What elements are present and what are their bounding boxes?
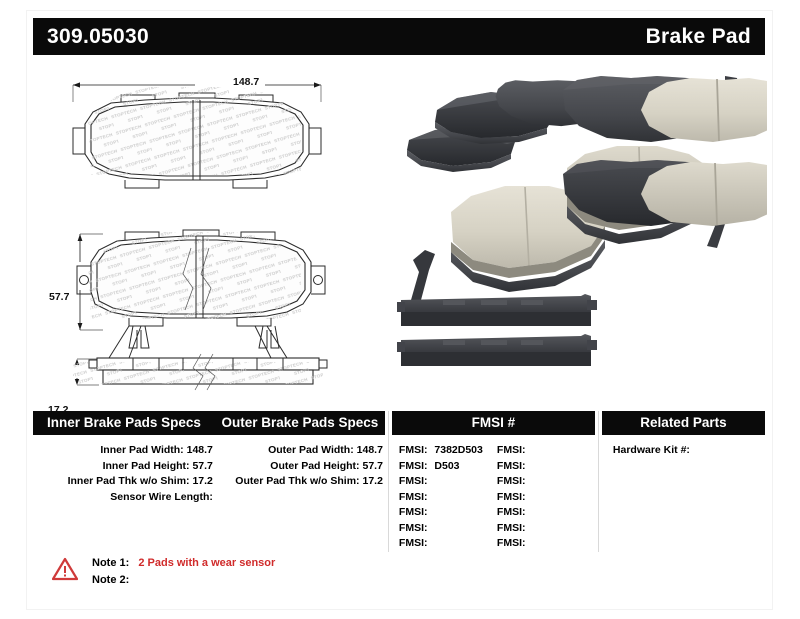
fmsi-row: FMSI: xyxy=(497,490,595,506)
part-number: 309.05030 xyxy=(47,25,149,49)
spec-label: Sensor Wire Length: xyxy=(110,491,213,503)
spec-row: Outer Pad Thk w/o Shim: 17.2 xyxy=(215,474,385,490)
warning-triangle-icon xyxy=(52,557,78,581)
fmsi-subcolumn-a: FMSI: 7382D503 FMSI: D503 FMSI: xyxy=(399,443,497,552)
related-label: Hardware Kit #: xyxy=(613,444,690,456)
spec-value: 17.2 xyxy=(362,475,382,487)
spec-row: Sensor Wire Length: xyxy=(33,490,215,506)
fmsi-label: FMSI: xyxy=(399,537,428,549)
pad-drawing-svg: STOPTECH STOPTECH xyxy=(33,62,393,397)
notes-section: Note 1: 2 Pads with a wear sensor Note 2… xyxy=(52,555,275,589)
column-related-parts: Related Parts Hardware Kit #: xyxy=(602,411,765,459)
spec-row: Outer Pad Width: 148.7 xyxy=(215,443,385,459)
fmsi-label: FMSI: xyxy=(399,460,428,472)
column-divider xyxy=(598,411,599,552)
fmsi-label: FMSI: xyxy=(399,491,428,503)
spec-label: Inner Pad Thk w/o Shim: xyxy=(68,475,190,487)
pad-view-edge xyxy=(73,326,333,390)
note-1-label: Note 1: xyxy=(92,557,129,569)
column-divider xyxy=(388,411,389,552)
fmsi-value xyxy=(525,537,529,549)
fmsi-row: FMSI: xyxy=(497,459,595,475)
fmsi-row: FMSI: xyxy=(497,536,595,552)
height-dimension-label: 57.7 xyxy=(49,291,69,303)
note-row-2: Note 2: xyxy=(92,572,275,589)
spec-label: Outer Pad Width: xyxy=(268,444,354,456)
width-dimension-label: 148.7 xyxy=(233,76,259,88)
fmsi-value xyxy=(525,522,529,534)
spec-row: Inner Pad Thk w/o Shim: 17.2 xyxy=(33,474,215,490)
header-inner-specs: Inner Brake Pads Specs xyxy=(33,411,215,435)
spec-row: Inner Pad Width: 148.7 xyxy=(33,443,215,459)
header-bar: 309.05030 Brake Pad xyxy=(33,18,765,55)
spec-value: 57.7 xyxy=(362,460,382,472)
fmsi-value xyxy=(427,506,431,518)
fmsi-value xyxy=(525,460,529,472)
spec-row: Outer Pad Height: 57.7 xyxy=(215,459,385,475)
fmsi-value xyxy=(525,444,529,456)
fmsi-row: FMSI: xyxy=(497,443,595,459)
note-1-value: 2 Pads with a wear sensor xyxy=(132,557,275,569)
fmsi-row: FMSI: xyxy=(399,490,497,506)
fmsi-label: FMSI: xyxy=(399,444,428,456)
spec-value: 17.2 xyxy=(192,475,212,487)
product-photos xyxy=(395,62,767,397)
fmsi-value: D503 xyxy=(430,460,459,472)
fmsi-value xyxy=(427,522,431,534)
fmsi-label: FMSI: xyxy=(497,460,526,472)
header-outer-specs: Outer Brake Pads Specs xyxy=(215,411,385,435)
fmsi-value xyxy=(525,491,529,503)
fmsi-row: FMSI: D503 xyxy=(399,459,497,475)
fmsi-row: FMSI: xyxy=(399,505,497,521)
fmsi-value: 7382D503 xyxy=(430,444,482,456)
fmsi-value xyxy=(525,475,529,487)
note-2-value xyxy=(129,574,135,586)
pad-view-top xyxy=(73,82,333,192)
spec-table: Inner Brake Pads Specs Inner Pad Width: … xyxy=(33,411,765,552)
related-row: Hardware Kit #: xyxy=(602,443,765,459)
spec-value: 57.7 xyxy=(192,460,212,472)
spec-label: Outer Pad Thk w/o Shim: xyxy=(235,475,359,487)
pad-view-middle xyxy=(73,227,343,348)
header-related-parts: Related Parts xyxy=(602,411,765,435)
fmsi-value xyxy=(525,506,529,518)
spec-value: 148.7 xyxy=(357,444,383,456)
header-fmsi: FMSI # xyxy=(392,411,595,435)
spec-label: Inner Pad Height: xyxy=(103,460,190,472)
spec-row: Inner Pad Height: 57.7 xyxy=(33,459,215,475)
fmsi-label: FMSI: xyxy=(399,506,428,518)
fmsi-value xyxy=(427,537,431,549)
fmsi-row: FMSI: xyxy=(399,474,497,490)
fmsi-row: FMSI: xyxy=(497,505,595,521)
fmsi-row: FMSI: xyxy=(399,536,497,552)
product-spec-sheet: 309.05030 Brake Pad 148.7 STOPTECH STOPT… xyxy=(0,0,800,619)
fmsi-row: FMSI: xyxy=(497,521,595,537)
fmsi-label: FMSI: xyxy=(497,444,526,456)
fmsi-label: FMSI: xyxy=(497,506,526,518)
note-row-1: Note 1: 2 Pads with a wear sensor xyxy=(92,555,275,572)
fmsi-row: FMSI: xyxy=(497,474,595,490)
fmsi-label: FMSI: xyxy=(497,491,526,503)
fmsi-row: FMSI: 7382D503 xyxy=(399,443,497,459)
fmsi-label: FMSI: xyxy=(399,475,428,487)
fmsi-label: FMSI: xyxy=(497,522,526,534)
product-type: Brake Pad xyxy=(646,25,751,49)
fmsi-label: FMSI: xyxy=(497,537,526,549)
fmsi-label: FMSI: xyxy=(497,475,526,487)
technical-drawings: 148.7 STOPTECH STOPTECH xyxy=(33,62,393,397)
fmsi-label: FMSI: xyxy=(399,522,428,534)
column-outer-specs: Outer Brake Pads Specs Outer Pad Width: … xyxy=(215,411,385,490)
spec-value: 148.7 xyxy=(187,444,213,456)
fmsi-row: FMSI: xyxy=(399,521,497,537)
spec-label: Inner Pad Width: xyxy=(100,444,183,456)
fmsi-subcolumn-b: FMSI: FMSI: FMSI: xyxy=(497,443,595,552)
product-photo-svg xyxy=(395,62,767,397)
note-2-label: Note 2: xyxy=(92,574,129,586)
column-inner-specs: Inner Brake Pads Specs Inner Pad Width: … xyxy=(33,411,215,505)
column-fmsi: FMSI # FMSI: 7382D503 FMSI: D503 xyxy=(392,411,595,552)
fmsi-value xyxy=(427,491,431,503)
spec-label: Outer Pad Height: xyxy=(270,460,359,472)
fmsi-value xyxy=(427,475,431,487)
